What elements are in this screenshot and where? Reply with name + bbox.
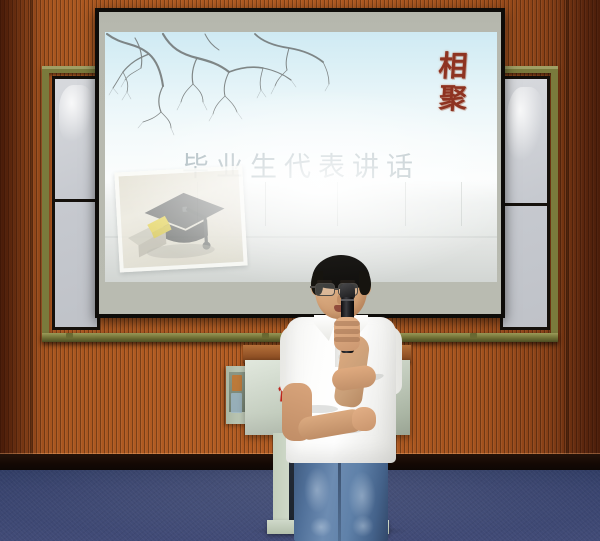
eyeglasses-bridge (335, 288, 339, 290)
projected-slide: 相 聚 毕业生代表讲话 (105, 32, 497, 282)
tree-branch-icon (105, 32, 335, 142)
microphone-ring (341, 299, 354, 301)
podium-shelf-item (231, 393, 242, 413)
speaker-figure (280, 255, 402, 541)
photo-scene: 相 聚 毕业生代表讲话 (0, 0, 600, 541)
wall-shadow-left (0, 0, 40, 470)
ledge-clip (470, 333, 477, 338)
calligraphy-seal: 相 聚 (427, 52, 479, 113)
graduation-cap-photo (114, 166, 247, 273)
wall-seam-left (30, 0, 33, 470)
eyeglasses-temple-arm (310, 286, 316, 288)
jeans-center-seam (338, 463, 341, 541)
hair-sideburn-right (359, 271, 371, 295)
hand-left (352, 407, 376, 431)
wall-seam-right (566, 0, 569, 470)
seal-char-1: 相 (426, 52, 480, 81)
eyeglasses-lens-left (315, 283, 335, 296)
ledge-clip (262, 333, 269, 338)
ledge-clip (66, 333, 73, 338)
podium-shelf-item (232, 375, 242, 391)
seal-char-2: 聚 (426, 85, 480, 113)
